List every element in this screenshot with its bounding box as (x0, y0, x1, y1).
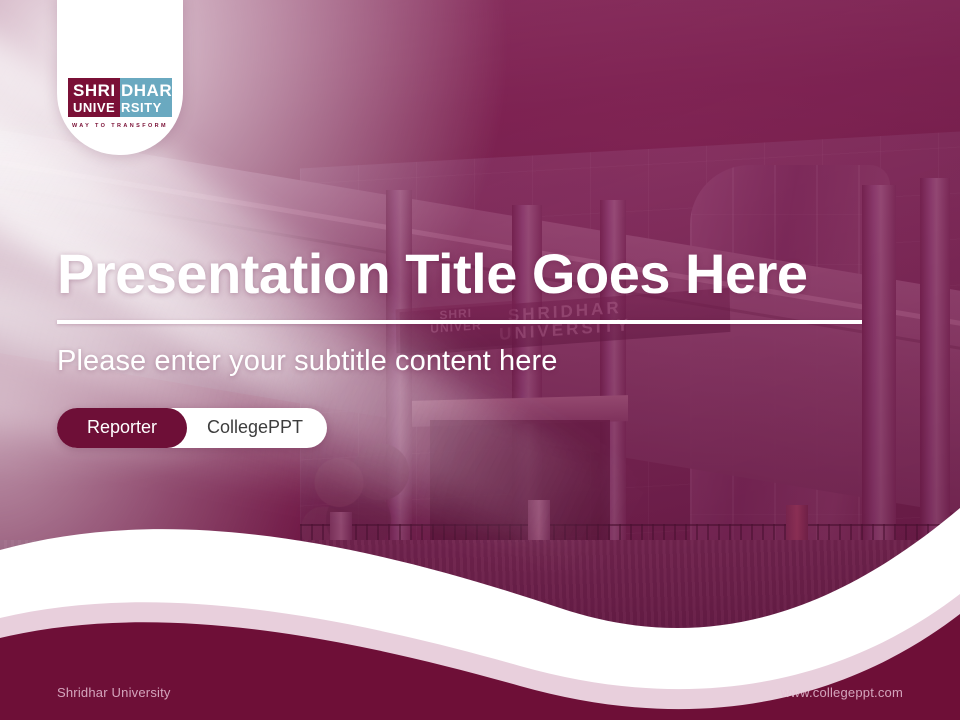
logo-text-unive: UNIVE (68, 101, 120, 114)
reporter-value: CollegePPT (187, 408, 327, 448)
reporter-label: Reporter (57, 408, 187, 448)
university-logo-tab: SHRI UNIVE DHAR RSITY WAY TO TRANSFORM (57, 0, 183, 155)
logo-text-shri: SHRI (68, 82, 120, 99)
logo-tagline: WAY TO TRANSFORM (72, 123, 168, 129)
page-subtitle: Please enter your subtitle content here (57, 345, 887, 378)
logo-right-block: DHAR RSITY (120, 78, 172, 117)
logo-text-dhar: DHAR (120, 82, 172, 99)
footer-website-url[interactable]: www.collegeppt.com (781, 685, 903, 700)
logo-left-block: SHRI UNIVE (68, 78, 120, 117)
slide-content: Presentation Title Goes Here Please ente… (57, 245, 887, 448)
footer-university-name: Shridhar University (57, 685, 171, 700)
page-title: Presentation Title Goes Here (57, 245, 887, 304)
presentation-title-slide: SHRIDHAR UNIVERSITY SHRI UNIVER SHRI UNI… (0, 0, 960, 720)
university-logo-icon: SHRI UNIVE DHAR RSITY (68, 78, 172, 117)
title-divider (57, 320, 862, 324)
slide-footer: Shridhar University www.collegeppt.com (0, 664, 960, 720)
logo-text-rsity: RSITY (120, 101, 172, 114)
reporter-badge[interactable]: Reporter CollegePPT (57, 408, 327, 448)
